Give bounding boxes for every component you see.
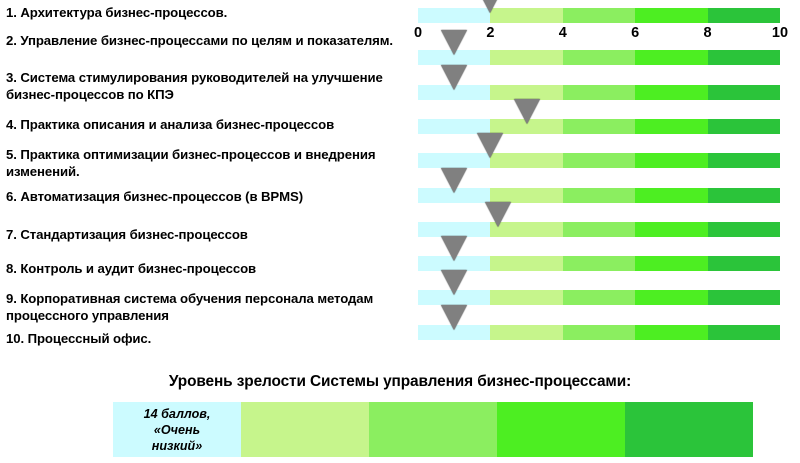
scale-band-3 xyxy=(563,222,635,237)
axis-tick-labels: 0246810 xyxy=(418,25,780,43)
score-marker-triangle xyxy=(441,65,467,90)
axis-tick: 0 xyxy=(414,25,422,41)
score-marker-triangle xyxy=(514,99,540,124)
criterion-label: 10. Процессный офис. xyxy=(6,330,404,347)
scale-band-5 xyxy=(708,50,780,65)
scale-band-4 xyxy=(635,85,707,100)
scale-band-4 xyxy=(635,8,707,23)
criterion-label: 1. Архитектура бизнес-процессов. xyxy=(6,4,404,21)
score-marker-triangle xyxy=(477,0,503,13)
scale-band-2 xyxy=(490,50,562,65)
scale-bar-row xyxy=(418,119,780,134)
criterion-label: 3. Система стимулирования руководителей … xyxy=(6,69,404,103)
scale-band-3 xyxy=(563,8,635,23)
scale-band-4 xyxy=(635,188,707,203)
scale-bar-row xyxy=(418,222,780,237)
summary-scale-bar: 14 баллов, «Очень низкий» xyxy=(113,402,753,457)
scale-panel: 0246810 xyxy=(406,0,800,366)
scale-band-3 xyxy=(563,325,635,340)
scale-band-2 xyxy=(490,325,562,340)
scale-band-3 xyxy=(563,256,635,271)
scale-band-5 xyxy=(708,222,780,237)
summary-score-label: 14 баллов, «Очень низкий» xyxy=(140,406,215,454)
axis-tick: 4 xyxy=(559,25,567,41)
scale-band-2 xyxy=(490,85,562,100)
scale-band-3 xyxy=(563,188,635,203)
criterion-label: 5. Практика оптимизации бизнес-процессов… xyxy=(6,146,404,180)
scale-band-3 xyxy=(563,50,635,65)
criterion-label: 6. Автоматизация бизнес-процессов (в BPM… xyxy=(6,188,404,205)
criterion-label: 7. Стандартизация бизнес-процессов xyxy=(6,226,404,243)
scale-band-5 xyxy=(708,325,780,340)
scale-band-1 xyxy=(418,222,490,237)
summary-band-3 xyxy=(369,402,497,457)
criterion-label: 9. Корпоративная система обучения персон… xyxy=(6,290,404,324)
axis-tick: 10 xyxy=(772,25,788,41)
scale-band-4 xyxy=(635,119,707,134)
score-marker-triangle xyxy=(485,202,511,227)
scale-band-5 xyxy=(708,119,780,134)
score-marker-triangle xyxy=(477,133,503,158)
scale-bar-row xyxy=(418,50,780,65)
summary-band-5 xyxy=(625,402,753,457)
maturity-assessment-chart: 1. Архитектура бизнес-процессов.2. Управ… xyxy=(0,0,800,463)
scale-band-5 xyxy=(708,8,780,23)
criterion-label: 2. Управление бизнес-процессами по целям… xyxy=(6,32,404,49)
scale-bar-row xyxy=(418,256,780,271)
scale-bar-row xyxy=(418,8,780,23)
summary-title: Уровень зрелости Системы управления бизн… xyxy=(0,373,800,391)
criterion-label: 8. Контроль и аудит бизнес-процессов xyxy=(6,260,404,277)
summary-band-4 xyxy=(497,402,625,457)
criterion-label: 4. Практика описания и анализа бизнес-пр… xyxy=(6,116,404,133)
scale-band-5 xyxy=(708,153,780,168)
summary-band-1: 14 баллов, «Очень низкий» xyxy=(113,402,241,457)
scale-band-5 xyxy=(708,188,780,203)
score-marker-triangle xyxy=(441,236,467,261)
scale-band-4 xyxy=(635,256,707,271)
scale-bar-row xyxy=(418,325,780,340)
scale-band-4 xyxy=(635,290,707,305)
summary-band-2 xyxy=(241,402,369,457)
axis-tick: 8 xyxy=(704,25,712,41)
score-marker-triangle xyxy=(441,270,467,295)
score-marker-triangle xyxy=(441,168,467,193)
scale-band-3 xyxy=(563,153,635,168)
scale-band-4 xyxy=(635,325,707,340)
scale-band-4 xyxy=(635,222,707,237)
score-marker-triangle xyxy=(441,30,467,55)
scale-band-2 xyxy=(490,290,562,305)
axis-tick: 2 xyxy=(486,25,494,41)
scale-band-4 xyxy=(635,153,707,168)
scale-band-4 xyxy=(635,50,707,65)
scale-band-3 xyxy=(563,85,635,100)
scale-band-5 xyxy=(708,85,780,100)
scale-band-1 xyxy=(418,119,490,134)
scale-band-3 xyxy=(563,119,635,134)
scale-band-2 xyxy=(490,256,562,271)
scale-band-5 xyxy=(708,256,780,271)
scale-bar-row xyxy=(418,153,780,168)
scale-band-5 xyxy=(708,290,780,305)
criteria-list: 1. Архитектура бизнес-процессов.2. Управ… xyxy=(0,0,406,366)
summary-section: Уровень зрелости Системы управления бизн… xyxy=(0,366,800,463)
scale-bar-row xyxy=(418,188,780,203)
axis-tick: 6 xyxy=(631,25,639,41)
scale-band-3 xyxy=(563,290,635,305)
scale-band-2 xyxy=(490,188,562,203)
scale-bar-row xyxy=(418,290,780,305)
scale-bar-row xyxy=(418,85,780,100)
score-marker-triangle xyxy=(441,305,467,330)
